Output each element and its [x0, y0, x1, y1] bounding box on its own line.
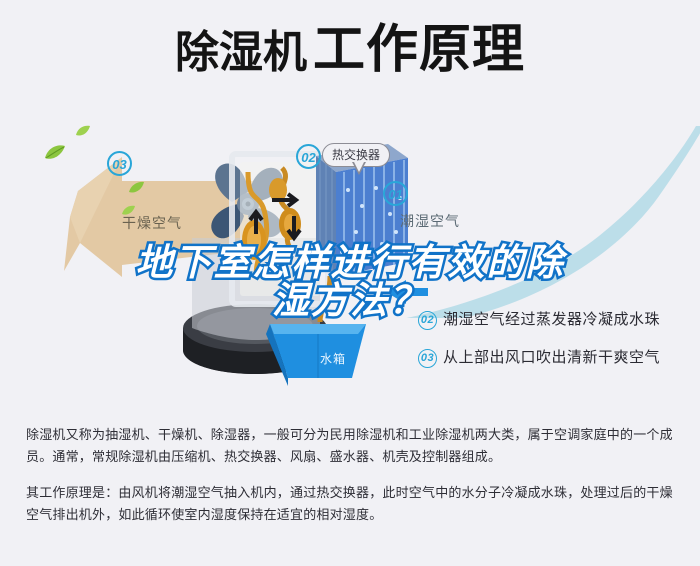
- bullet-text-02: 潮湿空气经过蒸发器冷凝成水珠: [443, 311, 660, 328]
- diagram-bullet-03: 03从上部出风口吹出清新干爽空气: [418, 346, 660, 368]
- step-badge-02: 02: [296, 144, 321, 169]
- water-tank: [266, 324, 366, 386]
- bullet-badge-02: 02: [418, 311, 437, 330]
- leaf-icon: [44, 144, 66, 167]
- dehumidifier-machine: [170, 128, 430, 398]
- bullet-text-03: 从上部出风口吹出清新干爽空气: [443, 349, 660, 366]
- dry-air-label: 干燥空气: [122, 213, 182, 233]
- step-badge-01: 01: [383, 181, 408, 206]
- page-title-part1: 除湿机: [175, 28, 307, 77]
- article-paragraph-2: 其工作原理是：由风机将潮湿空气抽入机内，通过热交换器，此时空气中的水分子冷凝成水…: [26, 482, 676, 526]
- page-title-part2: 工作原理: [313, 21, 525, 79]
- article-body: 除湿机又称为抽湿机、干燥机、除湿器，一般可分为民用除湿机和工业除湿机两大类，属于…: [0, 410, 700, 566]
- page-title: 除湿机工作原理: [0, 24, 700, 76]
- water-tank-label: 水箱: [320, 350, 346, 367]
- humid-air-label: 潮湿空气: [400, 211, 460, 231]
- leaf-icon: [128, 181, 145, 200]
- dehumidifier-article-page: 除湿机工作原理: [0, 0, 700, 566]
- diagram-bullet-02: 02潮湿空气经过蒸发器冷凝成水珠: [418, 308, 660, 330]
- callout-tail-icon: [352, 162, 366, 175]
- bullet-badge-03: 03: [418, 349, 437, 368]
- banner-illustration: 除湿机工作原理: [0, 0, 700, 410]
- dehumidifier-diagram: 03 02 01 热交换器 干燥空气 潮湿空气 水箱 02潮湿空气经过蒸发器冷凝…: [0, 118, 700, 410]
- intake-arrow: [386, 280, 428, 304]
- article-paragraph-1: 除湿机又称为抽湿机、干燥机、除湿器，一般可分为民用除湿机和工业除湿机两大类，属于…: [26, 424, 676, 468]
- step-badge-03: 03: [107, 151, 132, 176]
- leaf-icon: [75, 125, 91, 143]
